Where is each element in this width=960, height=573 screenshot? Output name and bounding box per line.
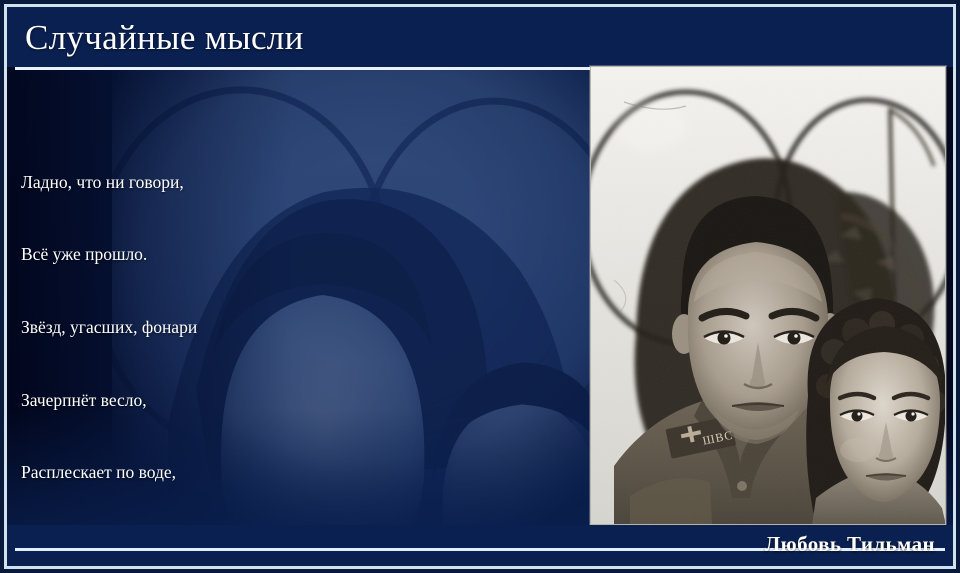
poem-line: Расплескает по воде,: [14, 460, 239, 484]
card-inner: ШВС Случайные мысли Ладно, что ни говори…: [7, 7, 953, 566]
poem-text: Ладно, что ни говори, Всё уже прошло. Зв…: [14, 73, 239, 566]
page-title: Случайные мысли: [25, 18, 304, 58]
poem-line: Ладно, что ни говори,: [14, 170, 239, 194]
poem-line: Всё уже прошло.: [14, 242, 239, 266]
portrait-photograph: ШВС: [590, 66, 946, 525]
poem-line: Звёзд, угасших, фонари: [14, 315, 239, 339]
poem-card: ШВС Случайные мысли Ладно, что ни говори…: [0, 0, 960, 573]
author-credit: Любовь Тильман: [765, 532, 935, 557]
poem-stanza-1: Ладно, что ни говори, Всё уже прошло. Зв…: [14, 121, 239, 566]
poem-line: Зачерпнёт весло,: [14, 388, 239, 412]
